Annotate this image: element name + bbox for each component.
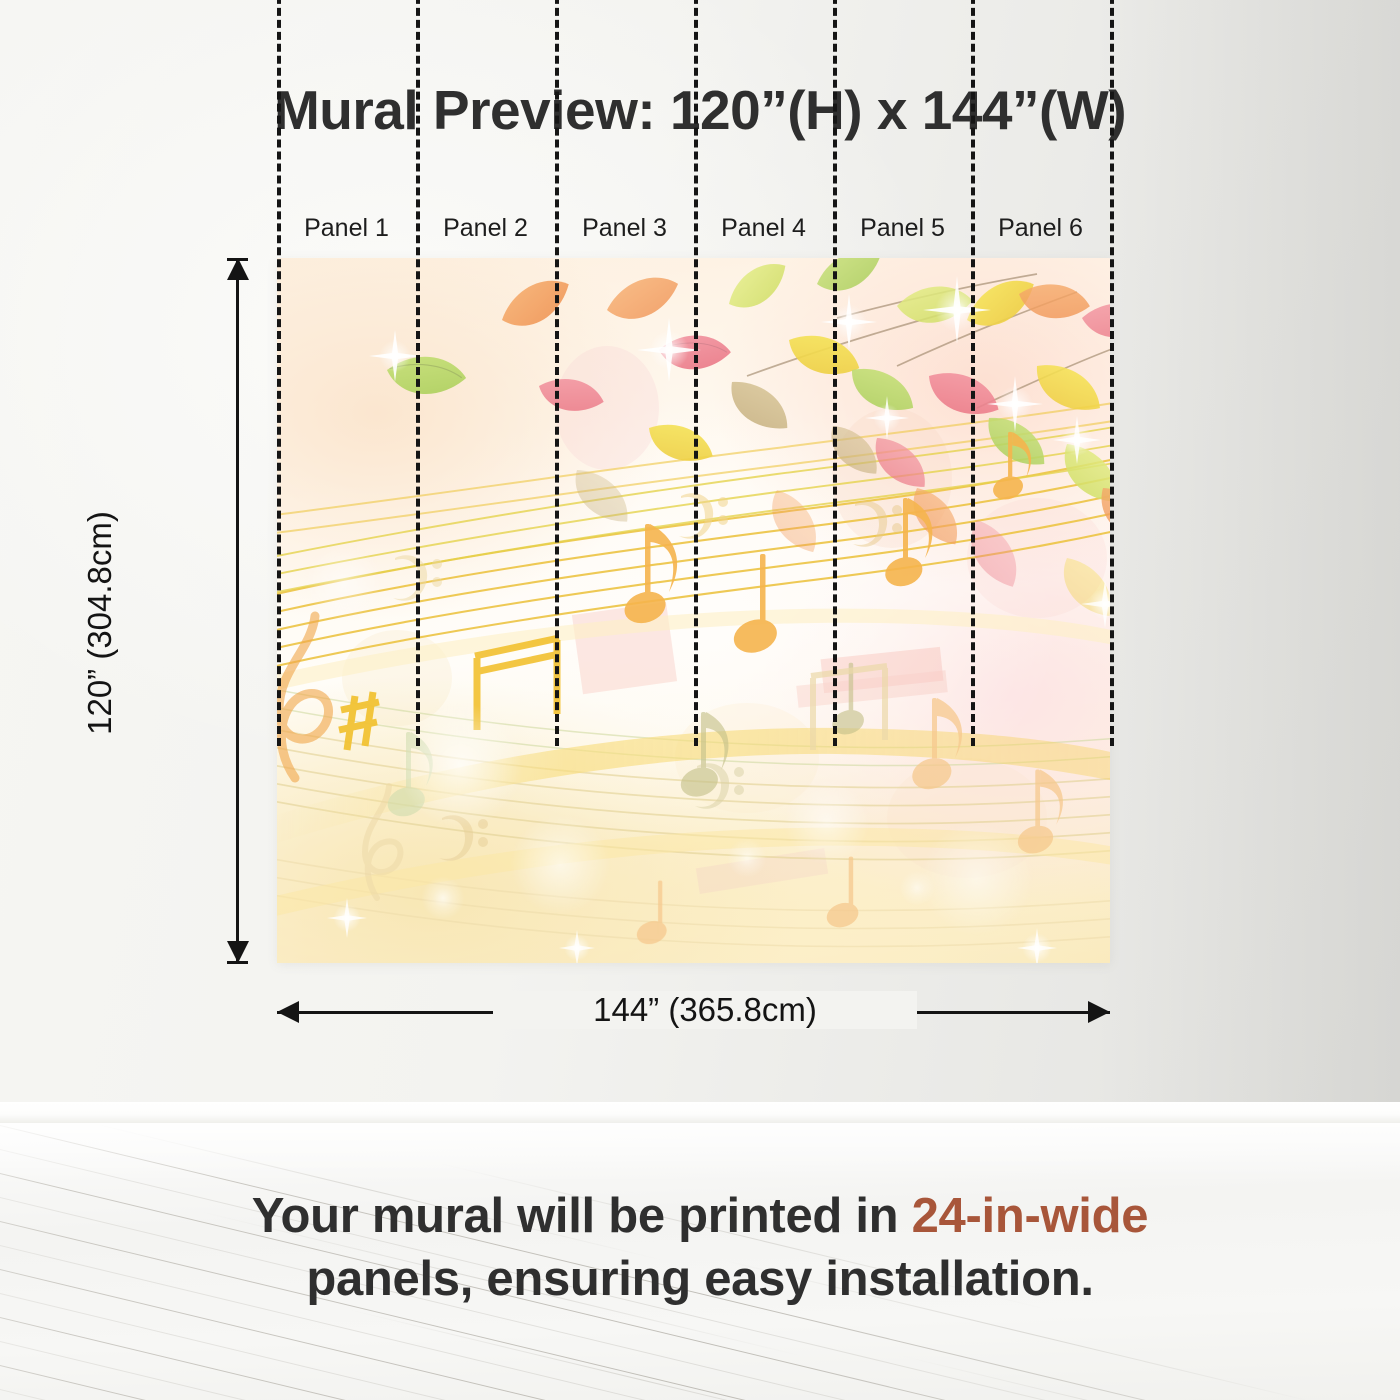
height-dimension-label: 120” (304.8cm)	[81, 423, 119, 823]
width-arrow-right-icon	[1088, 1001, 1110, 1023]
page-title: Mural Preview: 120”(H) x 144”(W)	[0, 78, 1400, 142]
width-dimension-label: 144” (365.8cm)	[493, 991, 917, 1029]
panel-divider-4	[833, 0, 837, 746]
panel-label-3: Panel 3	[555, 214, 694, 243]
caption-line-1-text: Your mural will be printed in	[252, 1189, 912, 1243]
panel-label-2: Panel 2	[416, 214, 555, 243]
mural-preview-scene: Mural Preview: 120”(H) x 144”(W)	[0, 0, 1400, 1400]
height-arrow-down-icon	[227, 941, 249, 963]
panel-divider-0	[277, 0, 281, 746]
panel-divider-3	[694, 0, 698, 746]
caption-highlight: 24-in-wide	[912, 1189, 1149, 1243]
panel-divider-1	[416, 0, 420, 746]
width-arrow-left-icon	[277, 1001, 299, 1023]
panel-label-6: Panel 6	[971, 214, 1110, 243]
panel-label-4: Panel 4	[694, 214, 833, 243]
panel-divider-5	[971, 0, 975, 746]
panel-label-5: Panel 5	[833, 214, 972, 243]
caption-line-2: panels, ensuring easy installation.	[0, 1248, 1400, 1311]
wall-right-shading	[1100, 0, 1400, 1122]
height-arrow-up-icon	[227, 258, 249, 280]
panel-divider-6	[1110, 0, 1114, 746]
caption-line-1: Your mural will be printed in 24-in-wide	[0, 1185, 1400, 1248]
height-dimension-line	[236, 258, 239, 963]
panel-divider-2	[555, 0, 559, 746]
baseboard	[0, 1102, 1400, 1125]
panel-label-1: Panel 1	[277, 214, 416, 243]
installation-caption: Your mural will be printed in 24-in-wide…	[0, 1185, 1400, 1310]
floor-sheen	[0, 1123, 1400, 1183]
